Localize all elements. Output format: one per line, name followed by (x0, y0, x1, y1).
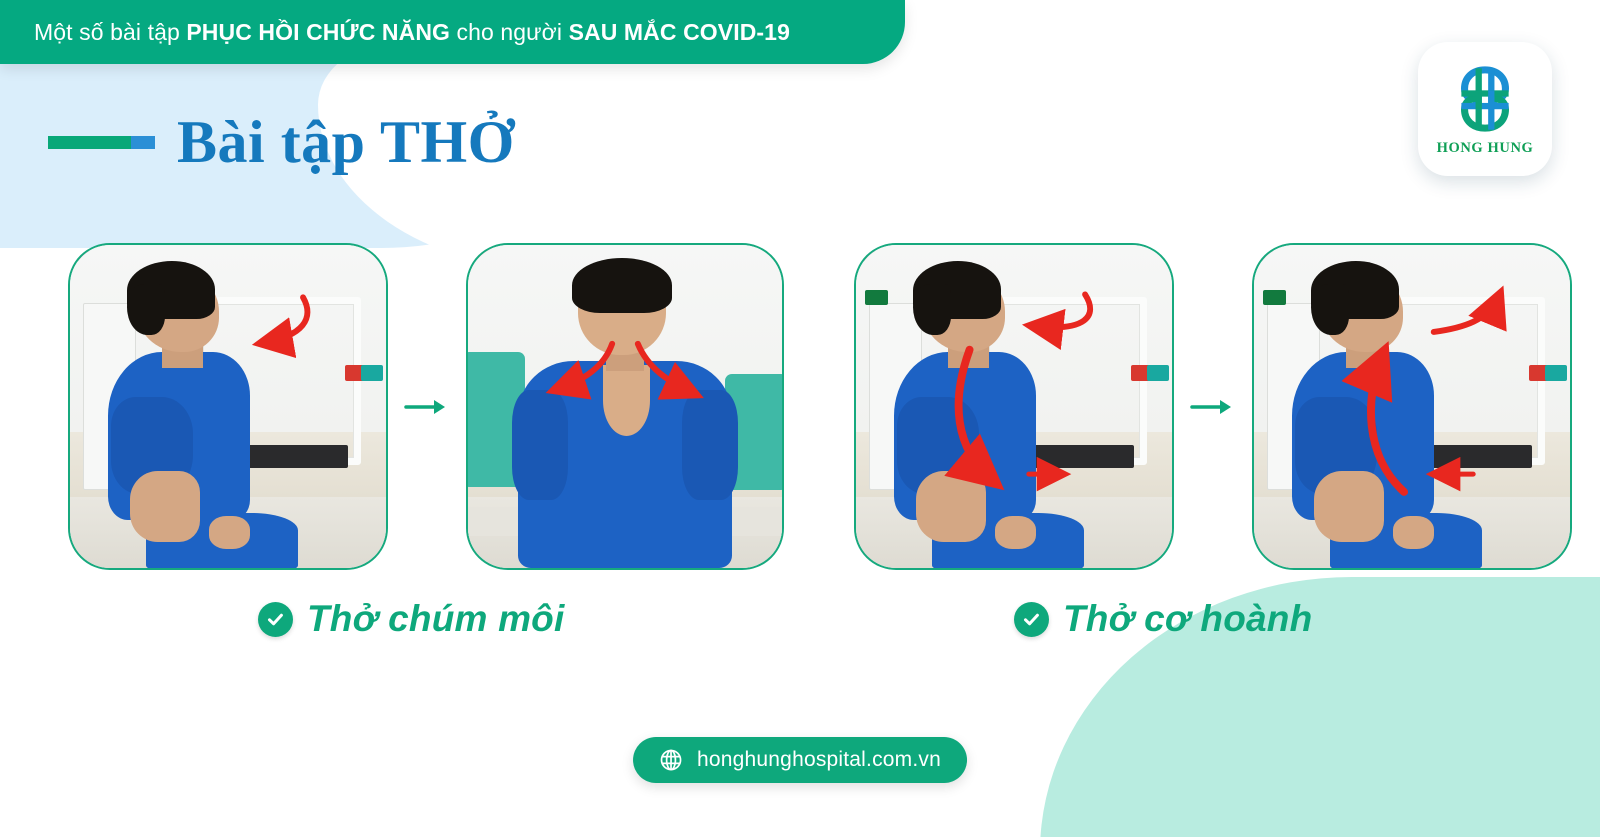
banner-text-part2: PHỤC HỒI CHỨC NĂNG (186, 19, 456, 45)
arrow-overlay (1254, 245, 1570, 568)
caption-label: Thở chúm môi (307, 598, 564, 640)
clover-cross-logo-icon (1445, 62, 1525, 136)
website-pill[interactable]: honghunghospital.com.vn (633, 737, 967, 783)
website-url: honghunghospital.com.vn (697, 748, 941, 772)
inhale-nose-arrow-icon (70, 245, 386, 568)
globe-icon (659, 748, 683, 772)
title-accent-bar-blue (131, 136, 155, 149)
exercise-captions: Thở chúm môi Thở cơ hoành (0, 598, 1600, 660)
exercise-group-pursed-lip (68, 243, 784, 570)
step-connector-1 (388, 397, 466, 417)
exercise-photo-3-inhale[interactable] (854, 243, 1174, 570)
exercise-photo-1-inhale[interactable] (68, 243, 388, 570)
hospital-logo-card[interactable]: HONG HUNG (1418, 42, 1552, 176)
check-mark-icon (266, 610, 285, 629)
diaphragm-exhale-arrows-icon (1254, 245, 1570, 568)
title-accent-bar (48, 136, 155, 149)
title-accent-bar-green (48, 136, 131, 149)
exercise-photo-4-exhale[interactable] (1252, 243, 1572, 570)
logo-wordmark: HONG HUNG (1437, 140, 1534, 157)
header-banner-title: Một số bài tập PHỤC HỒI CHỨC NĂNG cho ng… (0, 19, 790, 46)
step-connector-2 (1174, 397, 1252, 417)
caption-label: Thở cơ hoành (1063, 598, 1312, 640)
exhale-pursed-lips-arrows-icon (468, 245, 782, 568)
arrow-overlay (856, 245, 1172, 568)
right-arrow-icon (404, 397, 450, 417)
check-circle-icon (1014, 602, 1049, 637)
banner-text-part4: SAU MẮC COVID-19 (569, 19, 790, 45)
check-circle-icon (258, 602, 293, 637)
section-title-row: Bài tập THỞ (0, 112, 515, 172)
caption-pursed-lip: Thở chúm môi (258, 598, 564, 640)
caption-diaphragmatic: Thở cơ hoành (1014, 598, 1312, 640)
page-title: Bài tập THỞ (177, 112, 515, 172)
exercise-photo-2-exhale[interactable] (466, 243, 784, 570)
diaphragm-inhale-arrows-icon (856, 245, 1172, 568)
check-mark-icon (1022, 610, 1041, 629)
exercise-group-diaphragmatic (854, 243, 1572, 570)
arrow-overlay (468, 245, 782, 568)
exercise-photo-strip (0, 243, 1600, 570)
right-arrow-icon (1190, 397, 1236, 417)
banner-text-part1: Một số bài tập (34, 19, 186, 45)
banner-text-part3: cho người (457, 19, 569, 45)
arrow-overlay (70, 245, 386, 568)
header-banner: Một số bài tập PHỤC HỒI CHỨC NĂNG cho ng… (0, 0, 905, 64)
